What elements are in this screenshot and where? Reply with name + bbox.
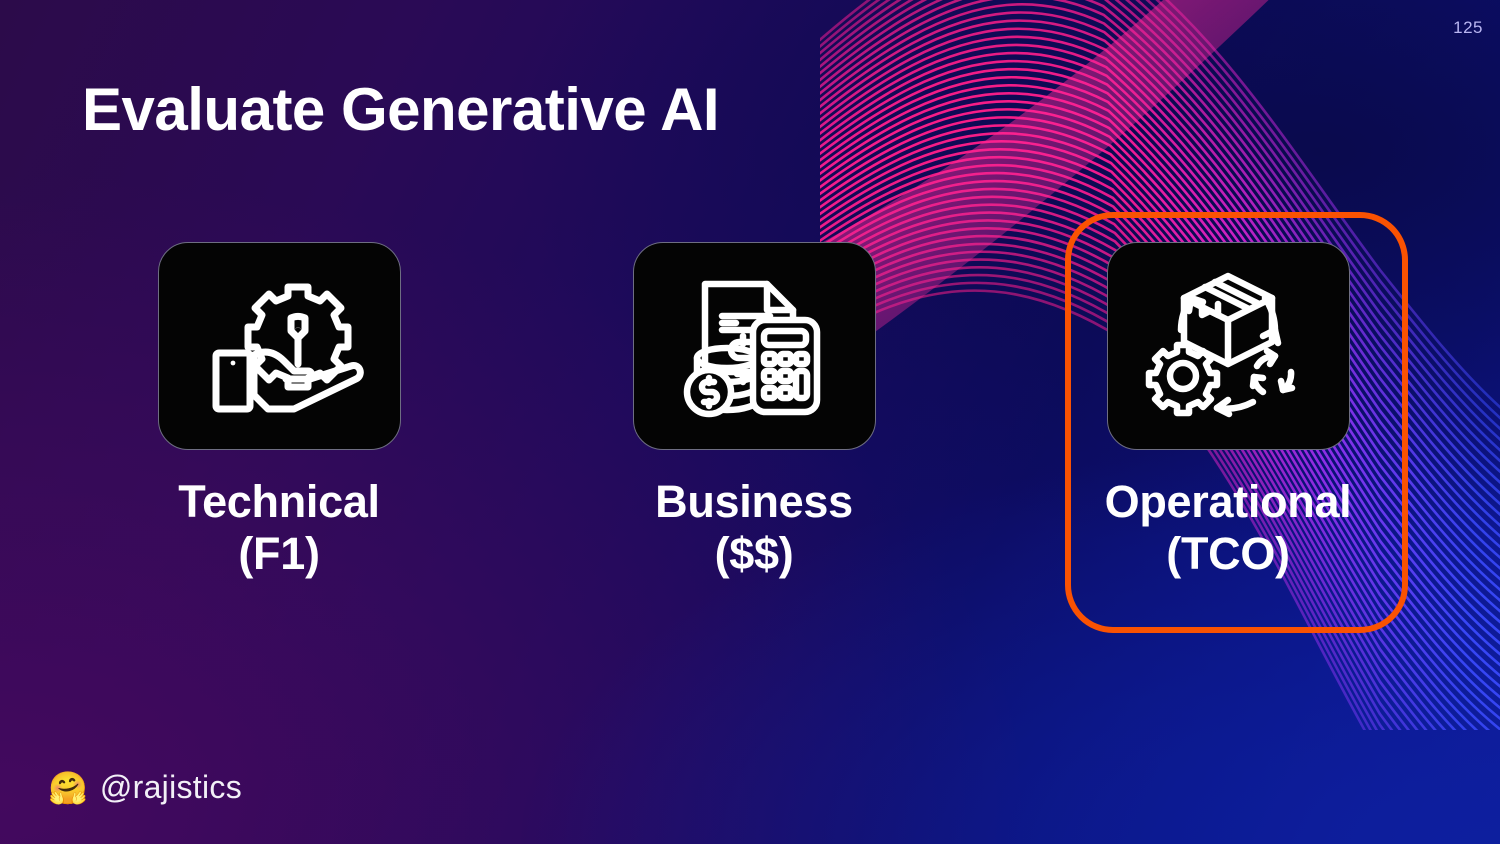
pillar-business-title: Business [655,476,853,527]
invoice-coins-calculator-icon [667,270,842,422]
pillar-operational[interactable]: Operational (TCO) [1078,242,1378,580]
pillar-operational-sub: (TCO) [1105,528,1352,580]
pillar-technical[interactable]: Technical (F1) [129,242,429,580]
pillar-row: Technical (F1) [0,242,1500,602]
pillar-business-tile [633,242,876,450]
page-number: 125 [1453,18,1483,38]
page-title: Evaluate Generative AI [82,78,719,141]
pillar-operational-tile [1107,242,1350,450]
box-gear-recycle-cycle-icon [1139,268,1317,424]
pillar-operational-title: Operational [1105,476,1352,527]
pillar-business-sub: ($$) [655,528,853,580]
hugging-face-emoji-icon: 🤗 [48,772,88,804]
pillar-business[interactable]: Business ($$) [604,242,904,580]
pillar-business-label: Business ($$) [655,476,853,580]
pillar-technical-title: Technical [178,476,380,527]
hand-holding-gear-wrench-icon [192,271,367,421]
pillar-technical-label: Technical (F1) [178,476,380,580]
footer-handle[interactable]: 🤗 @rajistics [48,769,242,806]
slide-canvas: Evaluate Generative AI 125 [0,0,1500,844]
pillar-technical-sub: (F1) [178,528,380,580]
pillar-operational-label: Operational (TCO) [1105,476,1352,580]
pillar-technical-tile [158,242,401,450]
footer-handle-text: @rajistics [100,769,242,806]
